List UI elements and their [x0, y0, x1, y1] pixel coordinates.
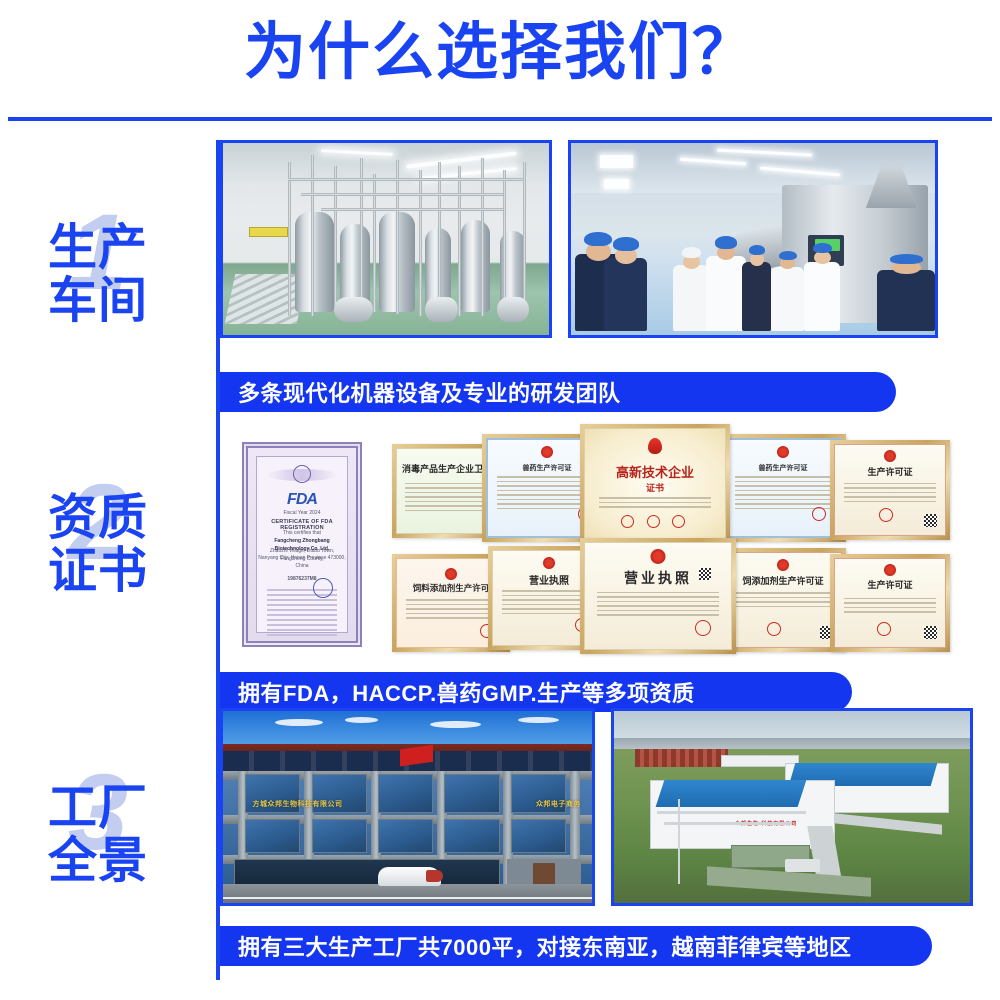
cert-veterinary-drug-production-license-2: 兽药生产许可证: [720, 434, 846, 542]
fda-address-2: Nanyang City, Henan Province 473000, Chi…: [257, 554, 347, 570]
photo-production-line-tanks: [220, 140, 552, 338]
building-sign-right: 众邦电子商务: [536, 799, 581, 809]
cert-production-license-right-top: 生产许可证: [830, 440, 950, 540]
photo-factory-aerial-view: 众邦生物 科技有限公司: [611, 708, 973, 906]
fda-fiscal-year: Fiscal Year 2024: [257, 509, 347, 517]
panel-certificates: FDA Fiscal Year 2024 CERTIFICATE OF FDA …: [220, 418, 1000, 666]
sidebar-label-production-line2: 车间: [48, 275, 213, 328]
sidebar-label-factory: 工厂 全景: [48, 782, 213, 888]
production-photo-row: [220, 140, 1000, 338]
sidebar-label-certificates-line2: 证书: [48, 545, 213, 598]
cert-business-license-main: 营业执照: [580, 538, 736, 654]
sidebar-section-production: 1 生产 车间: [48, 222, 213, 328]
sidebar-label-certificates: 资质 证书: [48, 492, 213, 598]
caption-production: 多条现代化机器设备及专业的研发团队: [220, 372, 896, 412]
header-divider-line: [8, 117, 992, 121]
fda-seal-icon: [313, 578, 333, 598]
sidebar-section-factory: 3 工厂 全景: [48, 782, 213, 888]
sidebar-section-certificates: 2 资质 证书: [48, 492, 213, 598]
sidebar-label-production-line1: 生产: [48, 222, 213, 275]
caption-factory: 拥有三大生产工厂共7000平，对接东南亚，越南菲律宾等地区: [220, 926, 932, 966]
photo-cleanroom-workers: [568, 140, 938, 338]
building-sign-left: 方城众邦生物科技有限公司: [253, 799, 343, 809]
cert-feed-additive-production-permit: 饲添加剂生产许可证: [720, 548, 846, 652]
page-title: 为什么选择我们？: [0, 22, 1000, 84]
poster-root: 为什么选择我们？ 1 生产 车间 2 资质 证书 3 工厂 全景: [0, 0, 1000, 1000]
factory-photo-row: 方城众邦生物科技有限公司 众邦电子商务 众邦生物 科技有限公司: [220, 708, 1000, 906]
fda-line1: This certifies that: [257, 529, 347, 537]
sidebar-label-production: 生产 车间: [48, 222, 213, 328]
caption-certificates: 拥有FDA，HACCP.兽药GMP.生产等多项资质: [220, 672, 852, 712]
photo-office-building-facade: 方城众邦生物科技有限公司 众邦电子商务: [220, 708, 595, 906]
certificate-board: FDA Fiscal Year 2024 CERTIFICATE OF FDA …: [220, 418, 1000, 666]
panel-factory: 方城众邦生物科技有限公司 众邦电子商务 众邦生物 科技有限公司: [220, 708, 1000, 906]
cert-production-license-right-bottom: 生产许可证: [830, 554, 950, 652]
cert-high-tech-enterprise: 高新技术企业 证书: [580, 424, 730, 544]
sidebar-label-certificates-line1: 资质: [48, 492, 213, 545]
fda-logo: FDA: [257, 491, 347, 509]
sidebar-label-factory-line1: 工厂: [48, 782, 213, 835]
white-car: [378, 867, 441, 886]
sidebar-label-factory-line2: 全景: [48, 835, 213, 888]
panel-production: 多条现代化机器设备及专业的研发团队: [220, 140, 1000, 338]
cert-fda-certificate: FDA Fiscal Year 2024 CERTIFICATE OF FDA …: [242, 442, 362, 647]
fda-registration-number: 19876237M8: [257, 575, 347, 583]
